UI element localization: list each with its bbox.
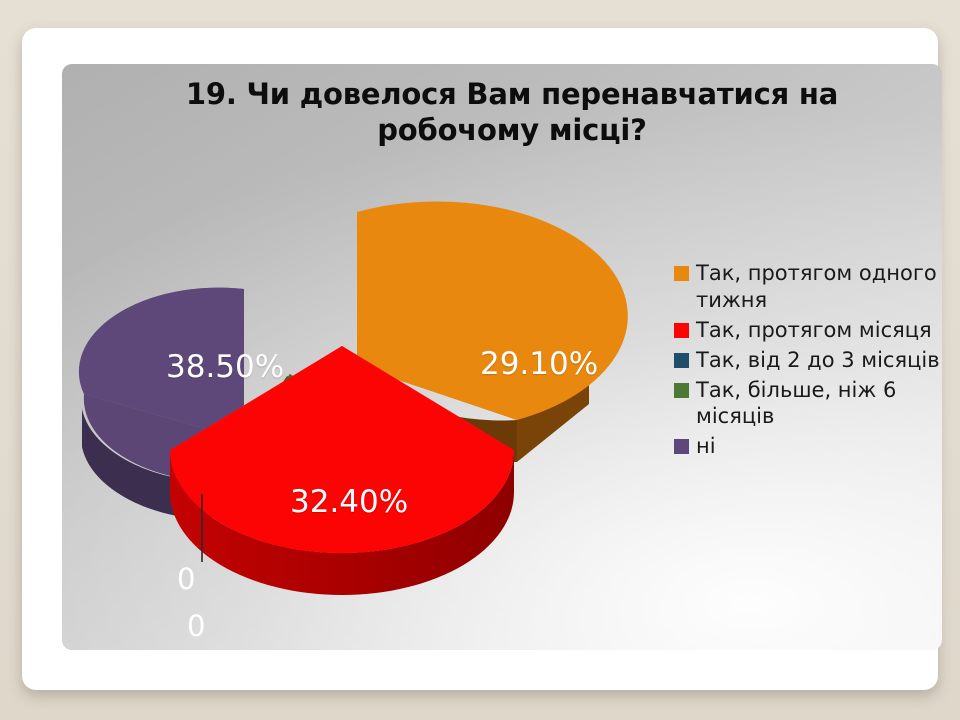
pie-chart-svg xyxy=(62,194,682,644)
page-title: 19. Чи довелося Вам перенавчатися на роб… xyxy=(132,76,892,149)
legend-swatch-icon-1 xyxy=(674,323,689,338)
pie-chart: 29.10% 32.40% 38.50% 0 0 xyxy=(62,194,682,644)
legend-swatch-icon-0 xyxy=(674,266,689,281)
legend-item-2[interactable]: Так, від 2 до 3 місяців xyxy=(674,347,942,374)
legend-item-1[interactable]: Так, протягом місяця xyxy=(674,317,942,344)
data-label-red: 32.40% xyxy=(290,484,408,520)
legend-label-2: Так, від 2 до 3 місяців xyxy=(696,347,940,374)
legend-label-4: ні xyxy=(696,433,716,460)
data-label-zero-lower: 0 xyxy=(187,609,205,643)
legend-item-4[interactable]: ні xyxy=(674,433,942,460)
legend-item-3[interactable]: Так, більше, ніж 6 місяців xyxy=(674,377,942,431)
legend-swatch-icon-2 xyxy=(674,353,689,368)
data-label-purple: 38.50% xyxy=(166,349,284,385)
legend-label-3: Так, більше, ніж 6 місяців xyxy=(696,377,942,431)
legend-label-0: Так, протягом одного тижня xyxy=(696,260,942,314)
legend-swatch-icon-3 xyxy=(674,383,689,398)
chart-legend: Так, протягом одного тижня Так, протягом… xyxy=(674,260,942,463)
slide: 19. Чи довелося Вам перенавчатися на роб… xyxy=(0,0,960,720)
slide-card: 19. Чи довелося Вам перенавчатися на роб… xyxy=(22,28,938,690)
legend-item-0[interactable]: Так, протягом одного тижня xyxy=(674,260,942,314)
legend-swatch-icon-4 xyxy=(674,439,689,454)
legend-label-1: Так, протягом місяця xyxy=(696,317,932,344)
data-label-orange: 29.10% xyxy=(480,346,598,382)
chart-panel: 19. Чи довелося Вам перенавчатися на роб… xyxy=(62,64,942,650)
data-label-zero-upper: 0 xyxy=(177,562,195,596)
